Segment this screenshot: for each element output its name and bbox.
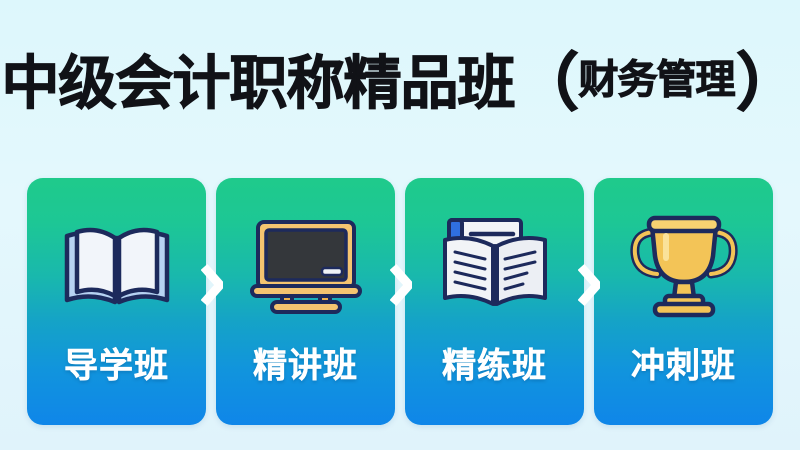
course-stage-list: 导学班: [27, 178, 773, 425]
textbook-notes-icon: [405, 204, 584, 324]
course-stage-card-4[interactable]: 冲刺班: [594, 178, 773, 425]
page-title-main: 中级会计职称精品班: [1, 54, 514, 112]
blackboard-icon: [216, 204, 395, 324]
course-stage-label-1: 导学班: [27, 338, 206, 387]
course-stage-label-3: 精练班: [405, 338, 584, 387]
course-stage-card-1[interactable]: 导学班: [27, 178, 206, 425]
poster-canvas: 中级会计职称精品班 （ 财务管理 ） 导学班: [0, 0, 800, 450]
open-book-icon: [27, 204, 206, 324]
trophy-icon: [594, 204, 773, 324]
title-paren-open: （: [516, 54, 578, 112]
title-paren-close: ）: [737, 54, 799, 112]
page-title-subject: 财务管理: [579, 51, 735, 109]
course-stage-card-2[interactable]: 精讲班: [216, 178, 395, 425]
page-title: 中级会计职称精品班 （ 财务管理 ）: [0, 48, 800, 118]
course-stage-label-4: 冲刺班: [594, 338, 773, 387]
course-stage-label-2: 精讲班: [216, 338, 395, 387]
course-stage-card-3[interactable]: 精练班: [405, 178, 584, 425]
